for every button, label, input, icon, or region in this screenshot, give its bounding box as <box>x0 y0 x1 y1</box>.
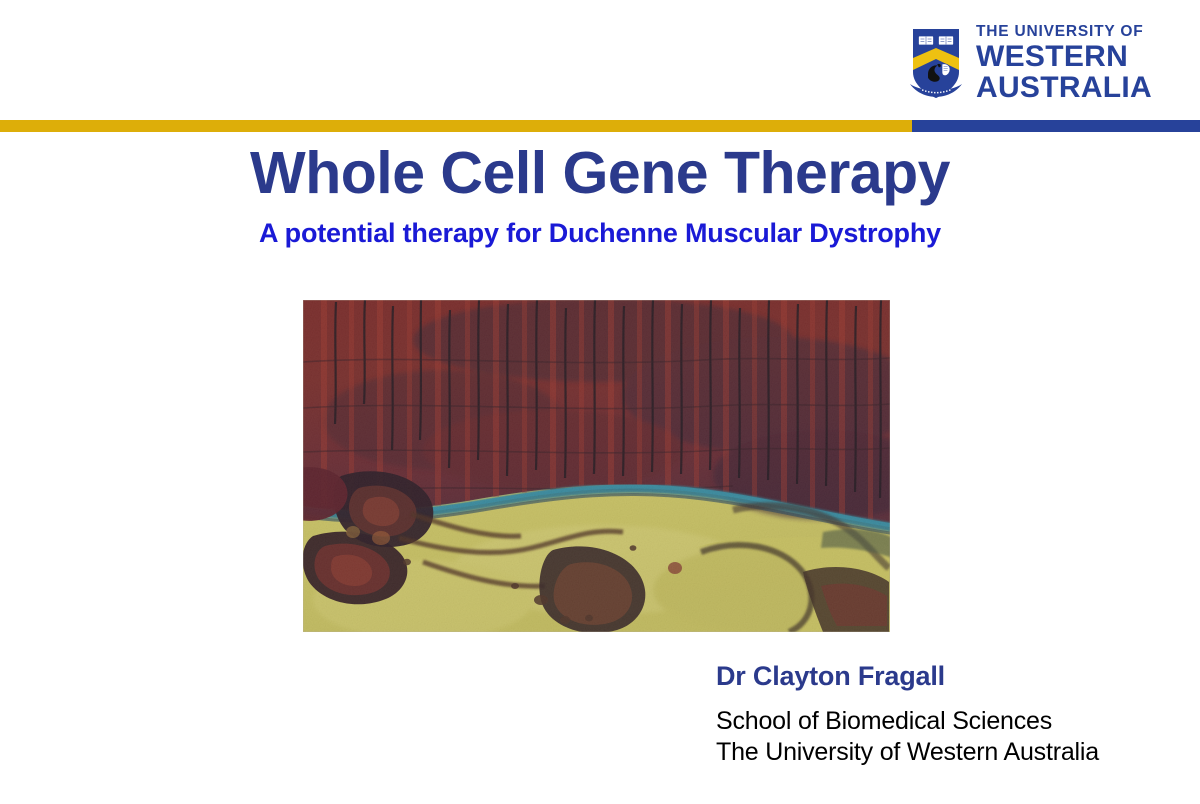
wordmark-line-3: AUSTRALIA <box>976 73 1152 104</box>
wordmark-line-1: THE UNIVERSITY OF <box>976 24 1152 40</box>
uwa-logo: THE UNIVERSITY OF WESTERN AUSTRALIA <box>908 22 1138 106</box>
divider-navy-segment <box>912 120 1200 132</box>
divider-gold-segment <box>0 120 912 132</box>
uwa-wordmark: THE UNIVERSITY OF WESTERN AUSTRALIA <box>976 24 1152 103</box>
slide-title: Whole Cell Gene Therapy <box>0 143 1200 205</box>
presenter-affiliation-school: School of Biomedical Sciences <box>716 706 1099 737</box>
slide-subtitle: A potential therapy for Duchenne Muscula… <box>0 218 1200 249</box>
muscle-micrograph-image <box>303 300 890 632</box>
wordmark-line-2: WESTERN <box>976 42 1152 73</box>
presenter-name: Dr Clayton Fragall <box>716 661 1099 692</box>
uwa-crest-icon <box>908 26 964 102</box>
presenter-block: Dr Clayton Fragall School of Biomedical … <box>716 661 1099 767</box>
brand-divider <box>0 120 1200 132</box>
title-slide: THE UNIVERSITY OF WESTERN AUSTRALIA Whol… <box>0 0 1200 804</box>
presenter-affiliation-university: The University of Western Australia <box>716 737 1099 768</box>
